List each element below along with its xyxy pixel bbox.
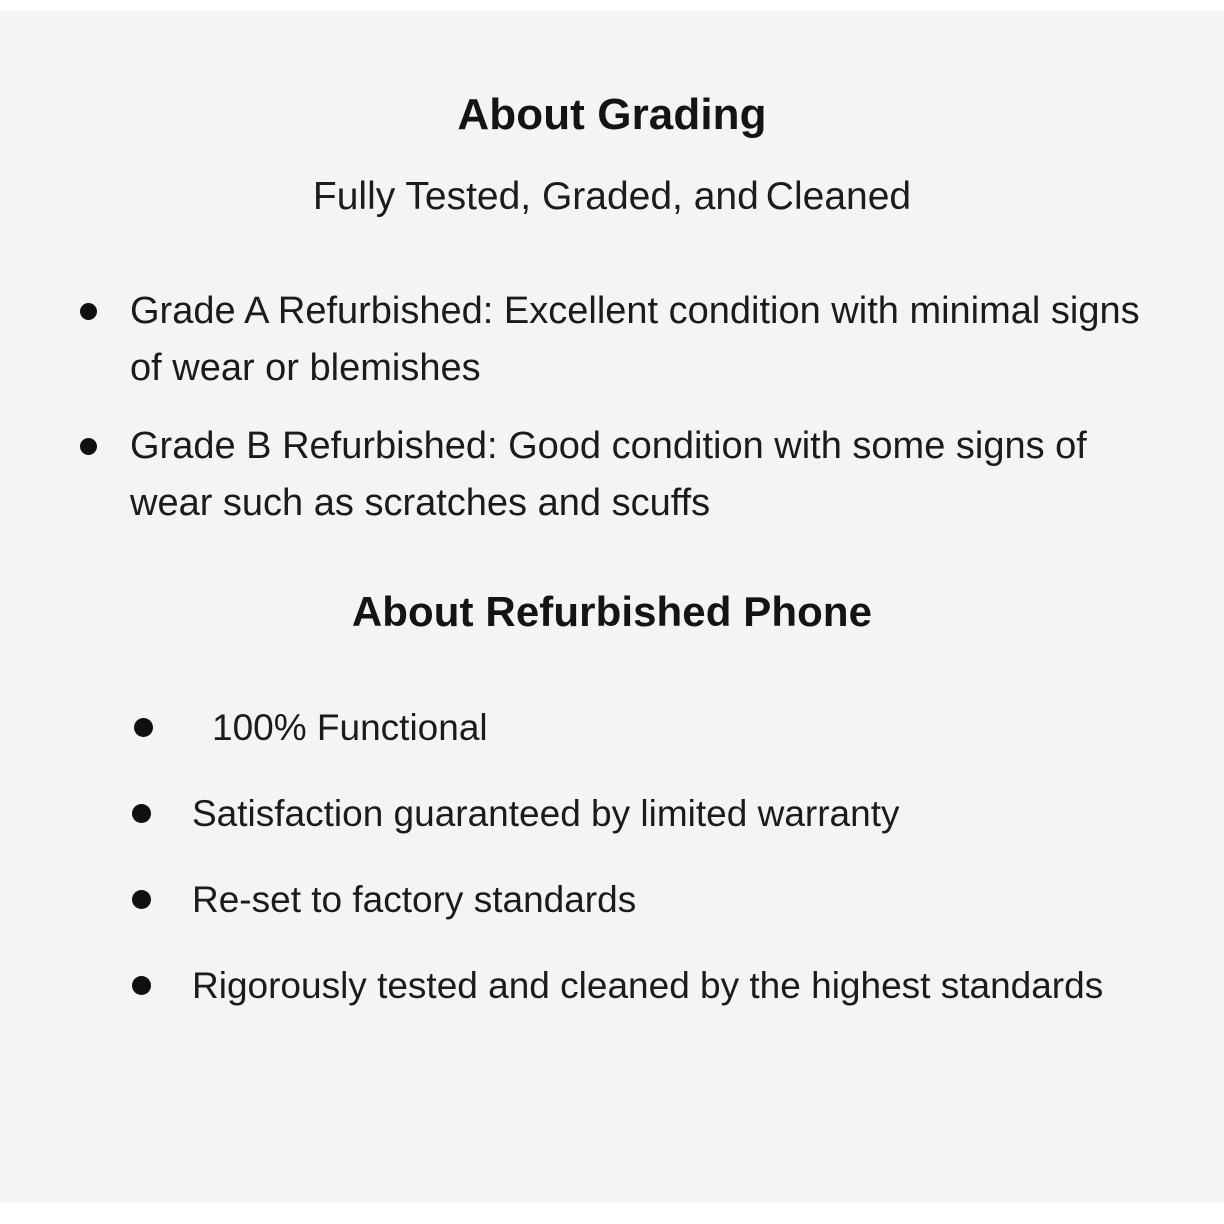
list-item: Grade B Refurbished: Good condition with… — [70, 418, 1160, 532]
list-item: Re-set to factory standards — [126, 871, 1156, 928]
list-item-label: 100% Functional — [212, 699, 1156, 756]
info-panel-content: About Grading Fully Tested, Graded, andC… — [0, 11, 1224, 1203]
bullet-dot-icon — [80, 303, 97, 320]
bullet-dot-icon — [132, 804, 151, 823]
grading-subtitle: Fully Tested, Graded, andCleaned — [0, 173, 1224, 221]
list-item: Satisfaction guaranteed by limited warra… — [126, 785, 1156, 842]
product-info-image: About Grading Fully Tested, Graded, andC… — [0, 0, 1224, 1224]
grading-bullet-list: Grade A Refurbished: Excellent condition… — [70, 283, 1160, 553]
bullet-dot-icon — [132, 976, 151, 995]
list-item-label: Grade B Refurbished: Good condition with… — [130, 418, 1160, 532]
section-title-about-refurbished-phone: About Refurbished Phone — [0, 586, 1224, 638]
bullet-dot-icon — [80, 438, 97, 455]
grading-subtitle-prefix: Fully Tested, Graded, and — [313, 175, 759, 218]
list-item: 100% Functional — [126, 699, 1156, 756]
list-item: Rigorously tested and cleaned by the hig… — [126, 957, 1156, 1014]
list-item-label: Re-set to factory standards — [192, 871, 1156, 928]
bullet-dot-icon — [132, 890, 151, 909]
page-title-about-grading: About Grading — [0, 89, 1224, 141]
list-item-label: Grade A Refurbished: Excellent condition… — [130, 283, 1160, 397]
bullet-dot-icon — [134, 718, 153, 737]
list-item-label: Rigorously tested and cleaned by the hig… — [192, 957, 1156, 1014]
info-panel: About Grading Fully Tested, Graded, andC… — [0, 11, 1224, 1203]
list-item-label: Satisfaction guaranteed by limited warra… — [192, 785, 1156, 842]
grading-subtitle-suffix: Cleaned — [766, 175, 911, 218]
refurbished-phone-bullet-list: 100% Functional Satisfaction guaranteed … — [126, 699, 1156, 1043]
list-item: Grade A Refurbished: Excellent condition… — [70, 283, 1160, 397]
